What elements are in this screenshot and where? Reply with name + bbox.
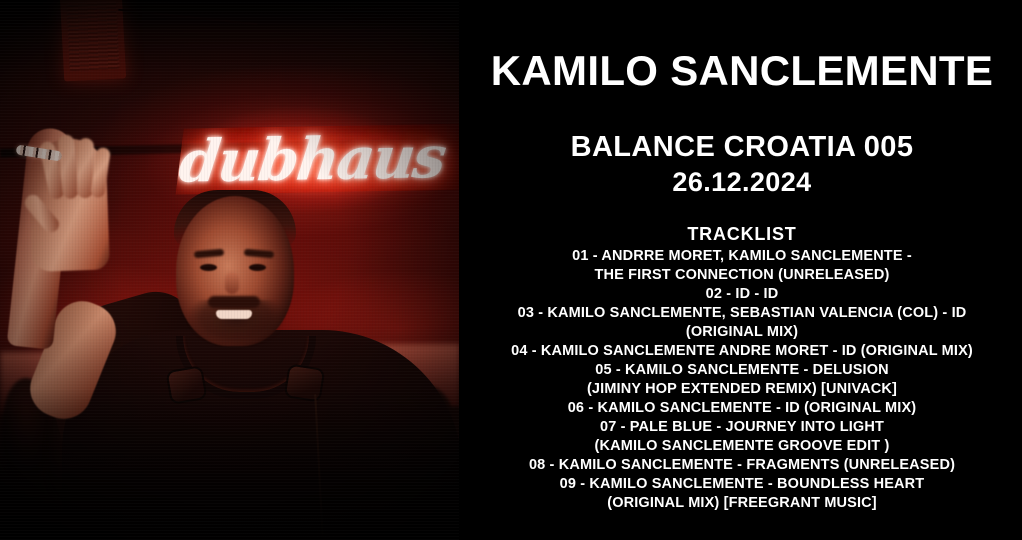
tracklist: 01 - ANDRRE MORET, KAMILO SANCLEMENTE - … [474,245,1010,513]
track-line: 04 - KAMILO SANCLEMENTE ANDRE MORET - ID… [474,342,1010,361]
info-panel: KAMILO SANCLEMENTE BALANCE CROATIA 005 2… [462,0,1022,540]
track-line: 02 - ID - ID [474,285,1010,304]
track-line: (ORIGINAL MIX) [FREEGRANT MUSIC] [474,494,1010,513]
tracklist-heading: TRACKLIST [474,197,1010,245]
artist-name: KAMILO SANCLEMENTE [474,0,1010,93]
release-date: 26.12.2024 [474,164,1010,197]
release-title: BALANCE CROATIA 005 [474,93,1010,164]
track-line: 08 - KAMILO SANCLEMENTE - FRAGMENTS (UNR… [474,456,1010,475]
track-line: 05 - KAMILO SANCLEMENTE - DELUSION [474,361,1010,380]
track-line: 09 - KAMILO SANCLEMENTE - BOUNDLESS HEAR… [474,475,1010,494]
track-line: THE FIRST CONNECTION (UNRELEASED) [474,266,1010,285]
track-line: (ORIGINAL MIX) [474,323,1010,342]
track-line: (JIMINY HOP EXTENDED REMIX) [UNIVACK] [474,380,1010,399]
artist-photo: dubhaus [0,0,462,540]
photo-vignette [0,0,462,540]
track-line: 03 - KAMILO SANCLEMENTE, SEBASTIAN VALEN… [474,304,1010,323]
track-line: (KAMILO SANCLEMENTE GROOVE EDIT ) [474,437,1010,456]
dj-mix-poster: dubhaus [0,0,1022,540]
track-line: 07 - PALE BLUE - JOURNEY INTO LIGHT [474,418,1010,437]
track-line: 06 - KAMILO SANCLEMENTE - ID (ORIGINAL M… [474,399,1010,418]
track-line: 01 - ANDRRE MORET, KAMILO SANCLEMENTE - [474,247,1010,266]
